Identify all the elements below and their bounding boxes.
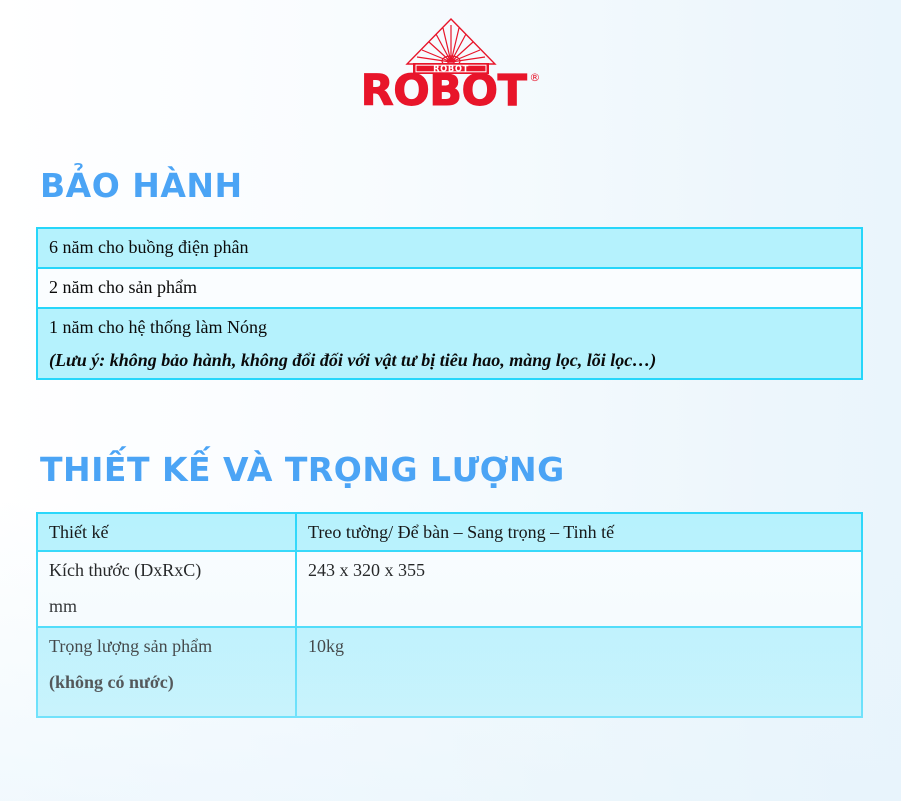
warranty-cell-1: 6 năm cho buồng điện phân — [37, 228, 862, 268]
section-heading-warranty: BẢO HÀNH — [40, 166, 243, 205]
design-label-3-line1: Trọng lượng sản phẩm — [49, 636, 212, 656]
section-heading-design: THIẾT KẾ VÀ TRỌNG LƯỢNG — [40, 450, 565, 489]
design-value-2: 243 x 320 x 355 — [296, 551, 862, 627]
design-label-2-line1: Kích thước (DxRxC) — [49, 560, 201, 580]
warranty-table: 6 năm cho buồng điện phân 2 năm cho sản … — [36, 227, 863, 380]
table-row: Trọng lượng sản phẩm (không có nước) 10k… — [37, 627, 862, 717]
logo-wordmark-text: ROBOT — [361, 70, 527, 113]
design-weight-table: Thiết kế Treo tường/ Để bàn – Sang trọng… — [36, 512, 863, 718]
table-row: 2 năm cho sản phẩm — [37, 268, 862, 308]
design-label-2: Kích thước (DxRxC) mm — [37, 551, 296, 627]
design-value-1: Treo tường/ Để bàn – Sang trọng – Tinh t… — [296, 513, 862, 551]
warranty-cell-3-main: 1 năm cho hệ thống làm Nóng — [49, 317, 267, 337]
warranty-cell-3: 1 năm cho hệ thống làm Nóng (Lưu ý: khôn… — [37, 308, 862, 379]
design-label-3: Trọng lượng sản phẩm (không có nước) — [37, 627, 296, 717]
design-label-2-line2: mm — [49, 594, 285, 618]
table-row: 6 năm cho buồng điện phân — [37, 228, 862, 268]
design-value-3: 10kg — [296, 627, 862, 717]
warranty-note: (Lưu ý: không bảo hành, không đổi đối vớ… — [49, 348, 851, 372]
brand-logo: ROBOT ROBOT ® — [0, 16, 901, 116]
table-row: Kích thước (DxRxC) mm 243 x 320 x 355 — [37, 551, 862, 627]
design-label-3-line2: (không có nước) — [49, 670, 285, 694]
table-row: 1 năm cho hệ thống làm Nóng (Lưu ý: khôn… — [37, 308, 862, 379]
logo-wordmark: ROBOT ® — [361, 70, 541, 113]
registered-trademark-icon: ® — [529, 72, 540, 83]
design-label-1: Thiết kế — [37, 513, 296, 551]
product-spec-page: ROBOT ROBOT ® BẢO HÀNH 6 năm cho buồng đ… — [0, 0, 901, 801]
warranty-cell-2: 2 năm cho sản phẩm — [37, 268, 862, 308]
table-row: Thiết kế Treo tường/ Để bàn – Sang trọng… — [37, 513, 862, 551]
